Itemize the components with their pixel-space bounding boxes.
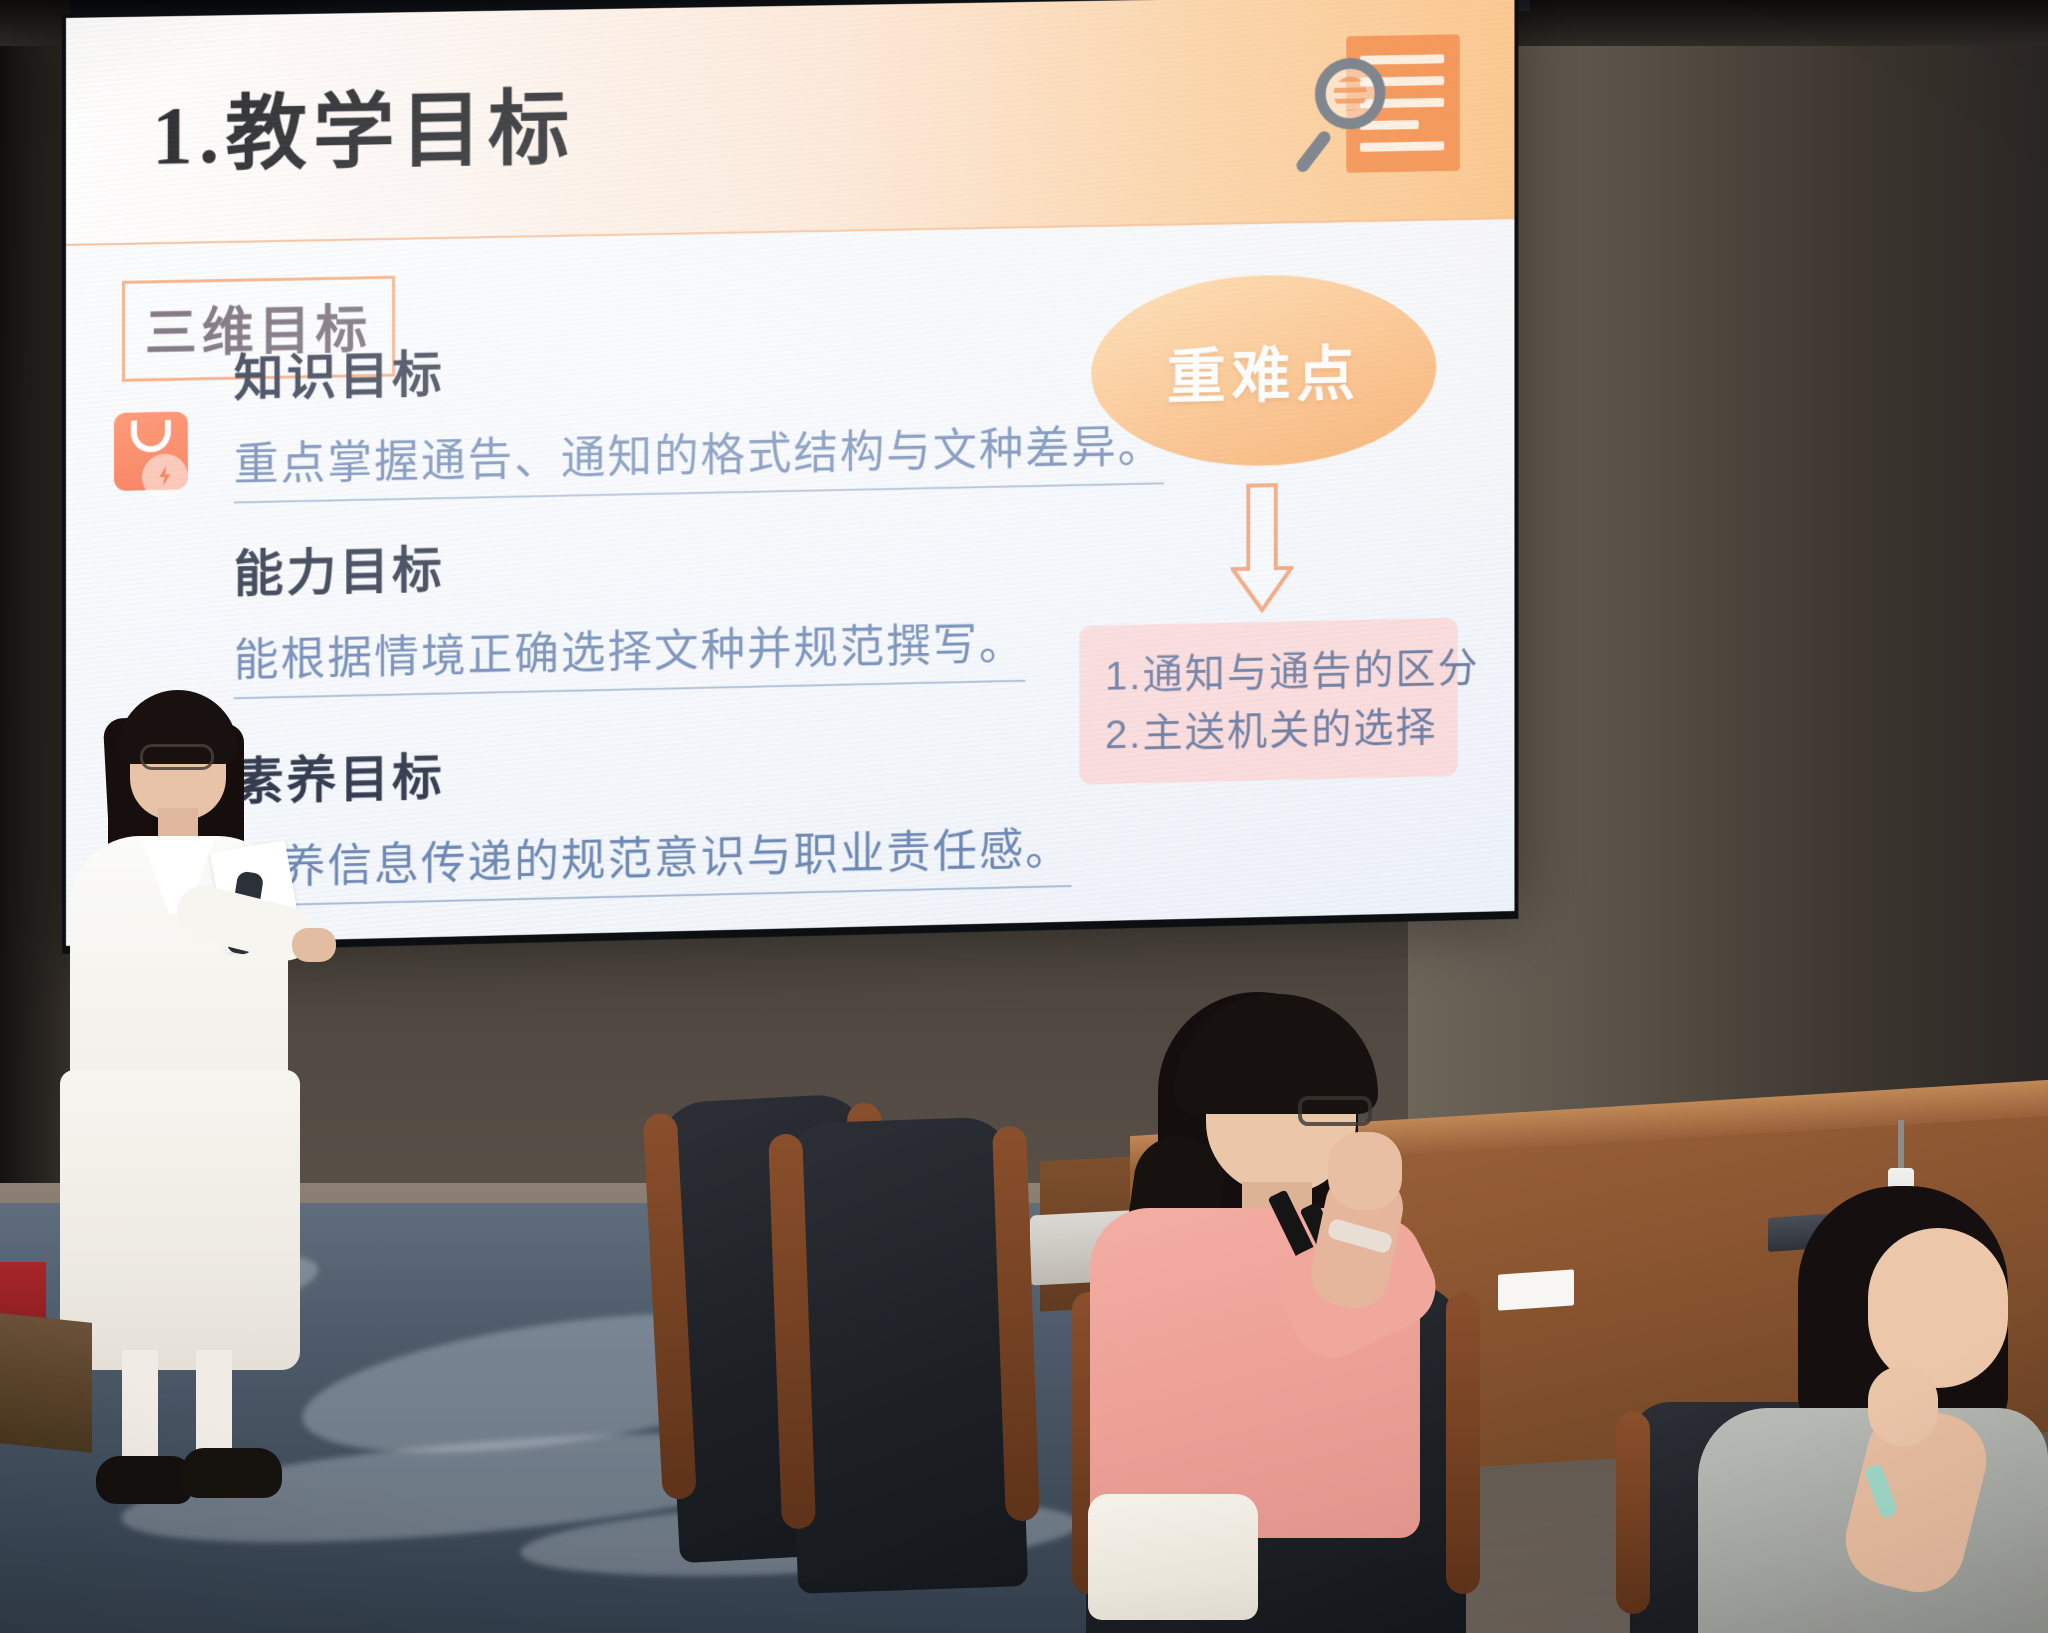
list-item: 2.主送机关的选择 [1105, 699, 1432, 765]
student-glasses [1298, 1096, 1372, 1126]
key-difficulty-list: 1.通知与通告的区分 2.主送机关的选择 [1079, 618, 1457, 785]
magnifier-document-icon [1313, 34, 1460, 185]
presenter-glasses [140, 744, 214, 770]
orange-bag-icon [114, 412, 188, 491]
wood-panel [0, 1313, 92, 1453]
paper-sheet [1498, 1269, 1574, 1310]
goal-text: 培养信息传递的规范意识与职业责任感。 [234, 813, 1072, 907]
magnifier-handle [1294, 129, 1333, 175]
goal-knowledge: 知识目标 重点掌握通告、通知的格式结构与文种差异。 [234, 321, 1164, 504]
goal-text: 能根据情境正确选择文种并规范撰写。 [234, 607, 1026, 699]
leather-chair [782, 1116, 1028, 1594]
page-title: 1.教学目标 [152, 61, 575, 187]
seated-student-grey-shirt [1672, 1186, 2048, 1633]
presenter-shoe [182, 1448, 282, 1498]
seated-student-pink-shirt [1046, 986, 1506, 1546]
classroom-photo-scene: 1.教学目标 三维目标 知识目标 [0, 0, 2048, 1633]
goal-heading: 素养目标 [234, 723, 1072, 814]
down-arrow-icon [1231, 483, 1294, 615]
bag [1088, 1494, 1258, 1620]
goal-literacy: 素养目标 培养信息传递的规范意识与职业责任感。 [234, 723, 1072, 907]
slide-header: 1.教学目标 [66, 0, 1514, 246]
student-head [1868, 1228, 2008, 1388]
list-item: 1.通知与通告的区分 [1105, 640, 1432, 706]
goal-ability: 能力目标 能根据情境正确选择文种并规范撰写。 [234, 518, 1026, 699]
goal-text: 重点掌握通告、通知的格式结构与文种差异。 [234, 410, 1164, 503]
key-difficulty-ellipse: 重难点 [1091, 272, 1436, 469]
presenter-shoe [96, 1456, 192, 1504]
key-difficulty-label: 重难点 [1167, 325, 1361, 415]
goal-heading: 能力目标 [234, 518, 1026, 606]
